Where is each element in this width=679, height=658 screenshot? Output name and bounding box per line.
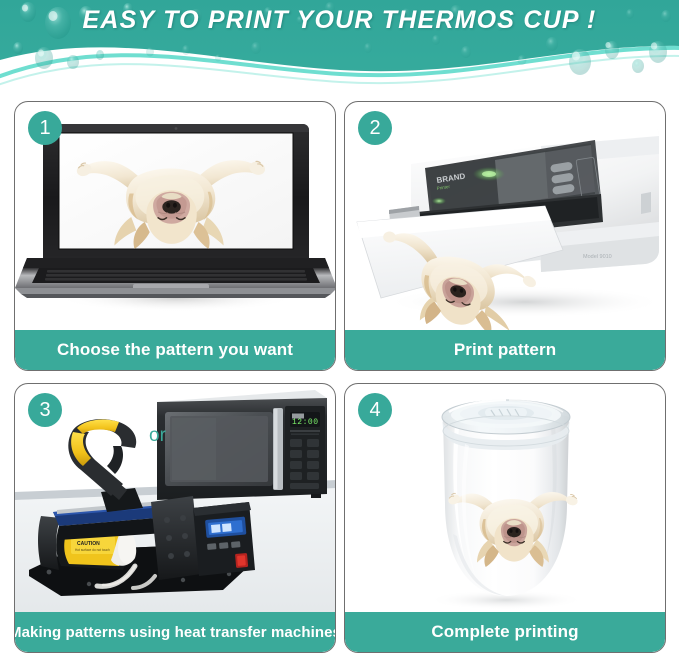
step-panel-3[interactable]: 3 or (14, 383, 336, 653)
step-number-badge-1: 1 (28, 111, 62, 145)
header-banner: EASY TO PRINT YOUR THERMOS CUP ! (0, 0, 679, 92)
step-number-badge-4: 4 (358, 393, 392, 427)
page-title: EASY TO PRINT YOUR THERMOS CUP ! (0, 6, 679, 35)
status-light-power (432, 198, 446, 205)
steps-grid: 1 (14, 101, 666, 653)
microwave: 12:00 (157, 390, 327, 504)
heat-press-and-microwave-illustration: 12:00 (15, 384, 335, 612)
panel-1-caption: Choose the pattern you want (15, 330, 335, 370)
microwave-display: 12:00 (292, 418, 319, 427)
panel-1-stage (15, 102, 335, 330)
panel-2-caption: Print pattern (345, 330, 665, 370)
tumbler-lid (442, 400, 570, 450)
panel-4-stage (345, 384, 665, 612)
step-panel-1[interactable]: 1 (14, 101, 336, 371)
panel-3-stage: or (15, 384, 335, 612)
printer-illustration: BRAND Printer (345, 102, 665, 330)
laptop-illustration (15, 102, 335, 330)
step-number-badge-3: 3 (28, 393, 62, 427)
or-label: or (149, 425, 166, 447)
step-panel-4[interactable]: 4 (344, 383, 666, 653)
tumbler-illustration (345, 384, 665, 612)
press-caution-label: CAUTION (77, 541, 100, 547)
laptop-keyboard (45, 270, 307, 281)
step-panel-2[interactable]: 2 (344, 101, 666, 371)
panel-3-caption: Making patterns using heat transfer mach… (15, 612, 335, 652)
step-number-badge-2: 2 (358, 111, 392, 145)
panel-2-stage: BRAND Printer (345, 102, 665, 330)
press-caution-subtext: Hot surface do not touch (75, 548, 110, 552)
infographic-page: EASY TO PRINT YOUR THERMOS CUP ! 1 (0, 0, 679, 658)
printer-model-label: Model 9010 (583, 254, 612, 260)
panel-4-caption: Complete printing (345, 612, 665, 652)
